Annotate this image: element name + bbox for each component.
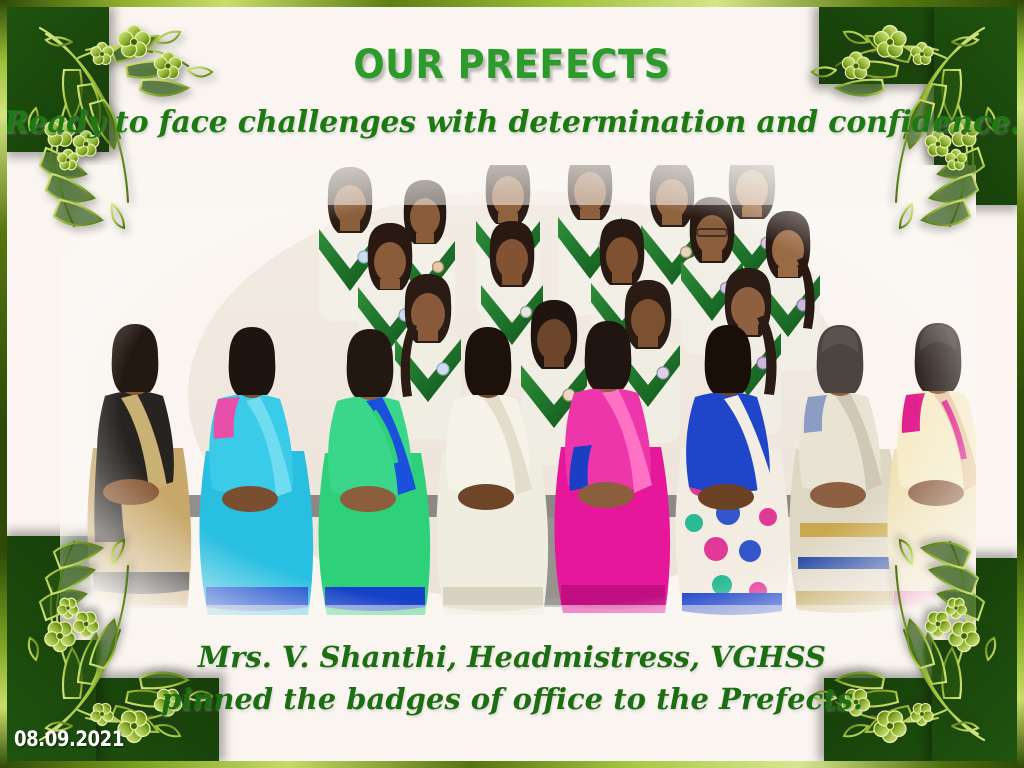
caption-block: Mrs. V. Shanthi, Headmistress, VGHSS pin… xyxy=(150,636,874,720)
date-badge: 08.09.2021 xyxy=(14,727,124,751)
caption-line-2: pinned the badges of office to the Prefe… xyxy=(150,678,874,720)
group-photograph xyxy=(60,165,976,640)
subtitle-text: Ready to face challenges with determinat… xyxy=(0,105,1024,140)
prefects-poster: OUR PREFECTS Ready to face challenges wi… xyxy=(0,0,1024,768)
caption-line-1: Mrs. V. Shanthi, Headmistress, VGHSS xyxy=(150,636,874,678)
page-title: OUR PREFECTS xyxy=(41,42,983,88)
